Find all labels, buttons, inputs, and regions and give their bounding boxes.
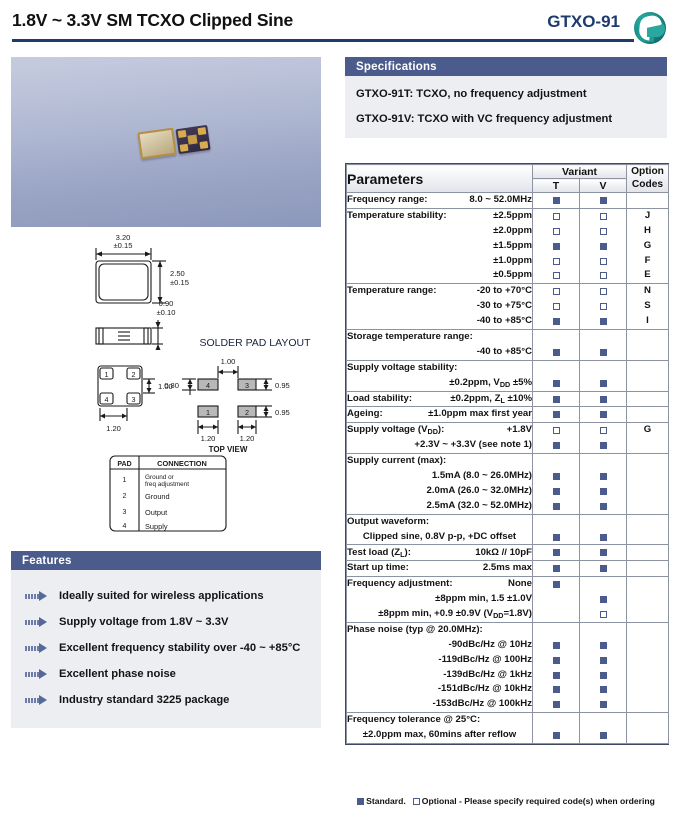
feature-item: Excellent phase noise [11,661,321,687]
variant-mark [580,561,626,576]
feature-item-label: Excellent phase noise [59,668,176,680]
parameter-line: Ageing:±1.0ppm max first year [347,407,532,422]
option-code [627,193,668,208]
option-code-cell-frequency-tolerance [627,713,669,744]
parameter-line: Frequency tolerance @ 25°C: [347,713,532,728]
parameters-table-wrapper: Parameters Variant Option Codes T V Freq… [345,163,669,745]
option-code-cell-temperature-range: NSI [627,284,669,330]
table-row: Frequency range:8.0 ~ 52.0MHz [347,193,669,209]
option-code [627,592,668,607]
option-code [627,638,668,653]
parameter-value: -30 to +75°C [347,299,532,314]
option-code-cell-supply-voltage: G [627,423,669,454]
pad-h-2: 0.95 [275,408,290,417]
legend-standard-text: Standard. [366,796,406,806]
variant-mark [580,592,626,607]
variant-mark [533,697,579,712]
feature-item-label: Supply voltage from 1.8V ~ 3.3V [59,616,228,628]
variant-mark [533,728,579,743]
table-row: Temperature stability:±2.5ppm±2.0ppm±1.5… [347,208,669,283]
variant-v-cell-frequency-adjustment [580,577,627,623]
parameter-cell-frequency-adjustment: Frequency adjustment:None±8ppm min, 1.5 … [347,577,533,623]
option-code [627,623,668,638]
part-number: GTXO-91 [547,12,620,32]
variant-v-filled-square-icon [600,565,607,572]
pad-table-cell-conn-1b: freq adjustment [145,481,189,488]
variant-mark [533,438,579,453]
variant-t-cell-start-up-time [533,561,580,577]
parameter-value: -151dBc/Hz @ 10kHz [347,682,532,697]
variant-t-cell-phase-noise [533,622,580,712]
parameter-label: Ageing: [347,407,383,422]
variant-t-filled-square-icon [553,642,560,649]
table-row: Storage temperature range:-40 to +85°C [347,330,669,361]
variant-v-filled-square-icon [600,349,607,356]
parameter-value: -153dBc/Hz @ 100kHz [347,697,532,712]
parameter-line: ±1.0ppm [347,254,532,269]
variant-mark [580,254,626,269]
parameter-line: Temperature stability:±2.5ppm [347,209,532,224]
parameter-value: -139dBc/Hz @ 1kHz [347,668,532,683]
variant-t-filled-square-icon [553,473,560,480]
variant-mark [533,224,579,239]
variant-mark [580,607,626,622]
parameter-value: ±0.5ppm [347,268,532,283]
variant-v-cell-temperature-stability [580,208,627,283]
parameter-value: ±1.0ppm max first year [383,407,532,422]
variant-mark [533,484,579,499]
variant-mark [533,239,579,254]
variant-t-empty [553,365,560,372]
parameter-label: Frequency adjustment: [347,577,453,592]
datasheet-page: 1.8V ~ 3.3V SM TCXO Clipped Sine GTXO-91 [0,0,676,814]
pad-number-2: 2 [245,408,249,417]
parameter-cell-storage-temperature-range: Storage temperature range:-40 to +85°C [347,330,533,361]
dim-thickness-tol: ±0.10 [157,308,176,317]
parameter-line: Supply current (max): [347,454,532,469]
option-code [627,668,668,683]
parameter-line: +2.3V ~ +3.3V (see note 1) [347,438,532,453]
table-row: Temperature range:-20 to +70°C-30 to +75… [347,284,669,330]
variant-mark [580,268,626,283]
variant-mark [580,623,626,638]
variant-mark [533,361,579,376]
variant-t-filled-square-icon [553,503,560,510]
variant-t-filled-square-icon [553,396,560,403]
pin-label-2: 2 [132,370,136,379]
pin-label-1: 1 [105,370,109,379]
pad-number-4: 4 [206,381,210,390]
option-code [627,345,668,360]
variant-mark [580,577,626,592]
parameter-value: -20 to +70°C [436,284,532,299]
parameter-value: 8.0 ~ 52.0MHz [428,193,532,208]
variant-mark [533,268,579,283]
parameter-cell-frequency-range: Frequency range:8.0 ~ 52.0MHz [347,193,533,209]
variant-v-filled-square-icon [600,672,607,679]
variant-v-cell-storage-temperature-range [580,330,627,361]
page-header: 1.8V ~ 3.3V SM TCXO Clipped Sine GTXO-91 [8,8,668,50]
parameter-value: -40 to +85°C [347,314,532,329]
variant-t-open-square-icon [553,213,560,220]
pad-table-cell-conn-3: Output [145,508,167,517]
bullet-arrow-icon [25,642,59,654]
parameter-value: None [453,577,532,592]
parameter-cell-temperature-range: Temperature range:-20 to +70°C-30 to +75… [347,284,533,330]
table-row: Supply current (max):1.5mA (8.0 ~ 26.0MH… [347,454,669,515]
variant-mark [580,224,626,239]
option-code-cell-frequency-adjustment [627,577,669,623]
variant-t-filled-square-icon [553,442,560,449]
parameter-line: ±2.0ppm [347,224,532,239]
th-option-codes: Option Codes [627,165,669,193]
variant-mark [533,638,579,653]
feature-item: Industry standard 3225 package [11,687,321,713]
option-code-cell-phase-noise [627,622,669,712]
features-list: Ideally suited for wireless applications… [11,570,321,728]
parameter-label: Storage temperature range: [347,330,473,345]
parameter-line: 2.5mA (32.0 ~ 52.0MHz) [347,499,532,514]
variant-v-filled-square-icon [600,732,607,739]
bullet-arrow-icon [25,590,59,602]
option-code: G [627,239,668,254]
features-bar-title: Features [11,551,321,570]
option-code [627,330,668,345]
variant-mark [533,407,579,422]
legend-open-square-icon [413,798,420,805]
option-code: G [627,423,668,438]
option-code-cell-temperature-stability: JHGFE [627,208,669,283]
variant-t-filled-square-icon [553,243,560,250]
option-code [627,392,668,407]
variant-mark [580,515,626,530]
variant-v-empty [600,334,607,341]
option-code [627,454,668,469]
variant-mark [533,423,579,438]
option-code-cell-load-stability [627,391,669,407]
variant-t-open-square-icon [553,228,560,235]
variant-t-empty [553,596,560,603]
th-parameters: Parameters [347,165,533,193]
variant-v-cell-supply-voltage [580,423,627,454]
option-code [627,361,668,376]
tcxo-package-bottom-view [175,125,210,154]
variant-t-cell-temperature-stability [533,208,580,283]
variant-mark [580,392,626,407]
option-code [627,697,668,712]
parameter-value: ±8ppm min, +0.9 ±0.9V (VDD=1.8V) [347,607,532,622]
table-row: Start up time:2.5ms max [347,561,669,577]
parameter-line: -119dBc/Hz @ 100Hz [347,653,532,668]
pad-table-cell-pad-4: 4 [123,523,127,530]
variant-mark [533,376,579,391]
pad-gap: 1.00 [221,357,236,366]
option-code [627,683,668,698]
parameter-value: ±2.0ppm [347,224,532,239]
pin-pitch-h: 1.20 [106,424,121,433]
pad-table-cell-conn-1a: Ground or [145,474,175,481]
variant-v-open-square-icon [600,303,607,310]
variant-v-empty [600,627,607,634]
parameter-cell-temperature-stability: Temperature stability:±2.5ppm±2.0ppm±1.5… [347,208,533,283]
variant-mark [533,469,579,484]
variant-t-filled-square-icon [553,534,560,541]
variant-mark [533,254,579,269]
variant-v-filled-square-icon [600,411,607,418]
variant-t-cell-ageing [533,407,580,423]
variant-mark [533,299,579,314]
pad-table-cell-pad-3: 3 [123,509,127,516]
parameter-value: ±2.0ppm max, 60mins after reflow [363,728,517,743]
pad-gap-v: 0.80 [164,381,179,390]
pad-number-3: 3 [245,381,249,390]
variant-t-filled-square-icon [553,672,560,679]
parameter-line: Storage temperature range: [347,330,532,345]
specifications-lines: GTXO-91T: TCXO, no frequency adjustmentG… [345,76,667,138]
option-code-cell-output-waveform [627,514,669,545]
variant-mark [580,653,626,668]
variant-mark [533,209,579,224]
variant-v-filled-square-icon [600,380,607,387]
table-row: Frequency tolerance @ 25°C:±2.0ppm max, … [347,713,669,744]
parameter-line: ±1.5ppm [347,239,532,254]
variant-v-open-square-icon [600,258,607,265]
parameter-value: 2.5mA (32.0 ~ 52.0MHz) [347,499,532,514]
variant-v-filled-square-icon [600,657,607,664]
variant-mark [580,530,626,545]
table-row: Phase noise (typ @ 20.0MHz):-90dBc/Hz @ … [347,622,669,712]
variant-v-empty [600,519,607,526]
table-row: Load stability:±0.2ppm, ZL ±10% [347,391,669,407]
feature-item: Excellent frequency stability over -40 ~… [11,635,321,661]
variant-v-open-square-icon [600,272,607,279]
parameter-value: ±0.2ppm, VDD ±5% [347,376,532,391]
page-title: 1.8V ~ 3.3V SM TCXO Clipped Sine [12,10,293,31]
variant-t-cell-frequency-adjustment [533,577,580,623]
parameter-line: ±2.0ppm max, 60mins after reflow [347,728,532,743]
variant-mark [533,668,579,683]
mechanical-drawings: 3.20 ±0.15 2.50 ±0.15 0.90 ±0.10 1 2 4 3… [0,228,330,538]
variant-v-filled-square-icon [600,473,607,480]
parameter-cell-supply-voltage-stability: Supply voltage stability:±0.2ppm, VDD ±5… [347,360,533,391]
parameter-line: -40 to +85°C [347,345,532,360]
variant-t-open-square-icon [553,427,560,434]
bullet-arrow-icon [25,668,59,680]
table-row: Test load (ZL):10kΩ // 10pF [347,545,669,561]
option-code-cell-test-load [627,545,669,561]
parameter-line: Supply voltage (VDD):+1.8V [347,423,532,438]
pad-table-header-pad: PAD [117,461,131,468]
variant-mark [580,545,626,560]
dim-height: 2.50 [170,269,185,278]
variant-t-cell-test-load [533,545,580,561]
variant-t-filled-square-icon [553,732,560,739]
variant-t-cell-supply-voltage [533,423,580,454]
bullet-arrow-icon [25,616,59,628]
parameter-value: ±1.5ppm [347,239,532,254]
option-code [627,469,668,484]
variant-v-open-square-icon [600,228,607,235]
pin-label-3: 3 [132,395,136,404]
parameter-line: 2.0mA (26.0 ~ 32.0MHz) [347,484,532,499]
parameter-line: -139dBc/Hz @ 1kHz [347,668,532,683]
variant-v-filled-square-icon [600,396,607,403]
parameter-value: 1.5mA (8.0 ~ 26.0MHz) [347,469,532,484]
specifications-bar-title: Specifications [345,57,667,76]
parameter-value: +2.3V ~ +3.3V (see note 1) [347,438,532,453]
specification-line: GTXO-91V: TCXO with VC frequency adjustm… [356,113,667,125]
table-row: Supply voltage stability:±0.2ppm, VDD ±5… [347,360,669,391]
variant-v-filled-square-icon [600,549,607,556]
option-code: J [627,209,668,224]
parameter-value: ±1.0ppm [347,254,532,269]
variant-v-open-square-icon [600,213,607,220]
solder-pad-title: SOLDER PAD LAYOUT [199,337,311,349]
product-photo [11,57,321,227]
pin-label-4: 4 [105,395,109,404]
variant-t-empty [553,334,560,341]
parameter-cell-frequency-tolerance: Frequency tolerance @ 25°C:±2.0ppm max, … [347,713,533,744]
variant-v-filled-square-icon [600,686,607,693]
th-variant: Variant [533,165,627,179]
variant-t-cell-output-waveform [533,514,580,545]
variant-v-filled-square-icon [600,642,607,649]
variant-mark [533,545,579,560]
top-view-label: TOP VIEW [209,445,248,454]
parameter-line: ±8ppm min, +0.9 ±0.9V (VDD=1.8V) [347,607,532,622]
pad-w-2: 1.20 [240,434,255,443]
variant-v-empty [600,581,607,588]
variant-mark [580,209,626,224]
option-code: F [627,254,668,269]
variant-mark [580,284,626,299]
variant-t-filled-square-icon [553,657,560,664]
variant-mark [580,423,626,438]
parameter-label: Supply voltage (VDD): [347,423,444,438]
tcxo-package-top-view [137,128,176,160]
option-code: I [627,314,668,329]
parameter-line: Load stability:±0.2ppm, ZL ±10% [347,392,532,407]
variant-mark [533,284,579,299]
variant-t-filled-square-icon [553,318,560,325]
variant-v-empty [600,458,607,465]
variant-mark [580,484,626,499]
variant-mark [580,314,626,329]
variant-mark [533,607,579,622]
option-code [627,438,668,453]
feature-item: Supply voltage from 1.8V ~ 3.3V [11,609,321,635]
option-code-cell-supply-voltage-stability [627,360,669,391]
option-code [627,484,668,499]
variant-t-cell-supply-voltage-stability [533,360,580,391]
variant-t-cell-frequency-tolerance [533,713,580,744]
variant-t-filled-square-icon [553,488,560,495]
option-code [627,653,668,668]
parameter-value: 10kΩ // 10pF [411,546,532,561]
parameter-value: ±0.2ppm, ZL ±10% [412,392,532,407]
variant-mark [580,638,626,653]
variant-t-open-square-icon [553,272,560,279]
bullet-arrow-icon [25,694,59,706]
pad-table-cell-pad-1: 1 [123,477,127,484]
option-code [627,561,668,576]
pad-number-1: 1 [206,408,210,417]
variant-mark [533,193,579,208]
option-code-cell-supply-current [627,454,669,515]
variant-v-cell-start-up-time [580,561,627,577]
mechanical-drawing-svg: 3.20 ±0.15 2.50 ±0.15 0.90 ±0.10 1 2 4 3… [0,228,330,538]
option-code [627,530,668,545]
parameter-label: Temperature stability: [347,209,447,224]
variant-v-open-square-icon [600,288,607,295]
option-code: E [627,268,668,283]
variant-v-cell-ageing [580,407,627,423]
variant-v-cell-supply-current [580,454,627,515]
parameter-label: Phase noise (typ @ 20.0MHz): [347,623,483,638]
variant-t-filled-square-icon [553,349,560,356]
variant-v-empty [600,365,607,372]
parameter-cell-supply-voltage: Supply voltage (VDD):+1.8V+2.3V ~ +3.3V … [347,423,533,454]
variant-mark [580,683,626,698]
pad-table-cell-pad-2: 2 [123,493,127,500]
parameter-label: Start up time: [347,561,409,576]
variant-t-empty [553,717,560,724]
variant-v-filled-square-icon [600,197,607,204]
parameter-line: -90dBc/Hz @ 10Hz [347,638,532,653]
variant-mark [533,623,579,638]
parameter-value: ±2.5ppm [447,209,532,224]
pad-table-cell-conn-2: Ground [145,492,170,501]
option-code-cell-frequency-range [627,193,669,209]
dim-thickness: 0.90 [159,299,174,308]
table-legend: Standard.Optional - Please specify requi… [345,796,667,806]
variant-v-cell-supply-voltage-stability [580,360,627,391]
table-row: Ageing:±1.0ppm max first year [347,407,669,423]
parameters-table: Parameters Variant Option Codes T V Freq… [346,164,669,744]
option-code [627,499,668,514]
variant-mark [533,683,579,698]
parameter-value: 2.0mA (26.0 ~ 32.0MHz) [347,484,532,499]
features-panel: Features Ideally suited for wireless app… [11,551,321,728]
variant-mark [533,345,579,360]
variant-mark [580,713,626,728]
variant-mark [533,314,579,329]
feature-item: Ideally suited for wireless applications [11,583,321,609]
variant-v-cell-test-load [580,545,627,561]
variant-t-filled-square-icon [553,197,560,204]
parameter-line: -151dBc/Hz @ 10kHz [347,682,532,697]
variant-v-filled-square-icon [600,701,607,708]
variant-t-empty [553,611,560,618]
parameter-line: Temperature range:-20 to +70°C [347,284,532,299]
option-code [627,713,668,728]
parameters-table-body: Frequency range:8.0 ~ 52.0MHz Temperatur… [347,193,669,744]
parameter-cell-ageing: Ageing:±1.0ppm max first year [347,407,533,423]
variant-t-filled-square-icon [553,701,560,708]
variant-mark [580,361,626,376]
header-rule [12,39,634,42]
dim-width-tol: ±0.15 [114,241,133,250]
parameter-cell-test-load: Test load (ZL):10kΩ // 10pF [347,545,533,561]
th-variant-v: V [580,179,627,193]
variant-v-cell-phase-noise [580,622,627,712]
variant-v-cell-output-waveform [580,514,627,545]
pad-table-header-connection: CONNECTION [157,459,207,468]
variant-mark [580,438,626,453]
parameter-cell-supply-current: Supply current (max):1.5mA (8.0 ~ 26.0MH… [347,454,533,515]
th-variant-t: T [533,179,580,193]
option-code: S [627,299,668,314]
